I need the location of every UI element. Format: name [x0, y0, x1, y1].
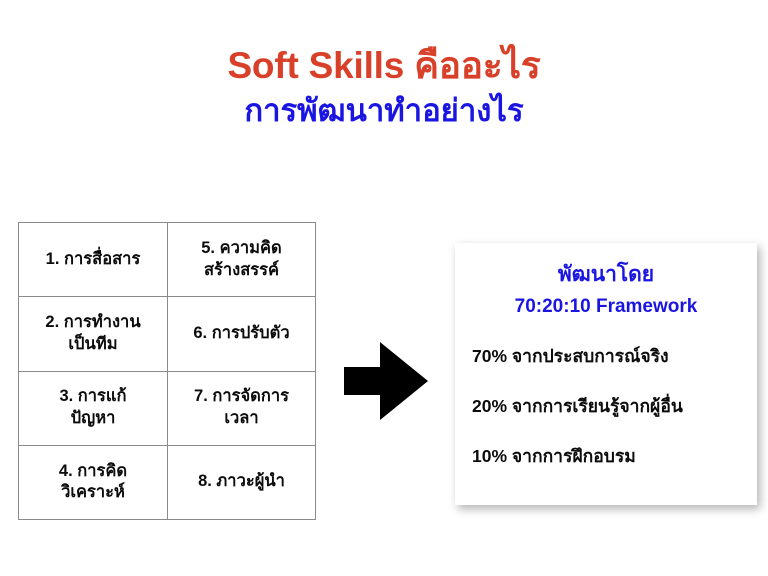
skill-cell-5: 5. ความคิดสร้างสรรค์ — [168, 223, 316, 297]
page-title: Soft Skills คืออะไร — [0, 44, 768, 88]
table-row: 4. การคิดวิเคราะห์ 8. ภาวะผู้นำ — [19, 445, 316, 519]
title-block: Soft Skills คืออะไร การพัฒนาทำอย่างไร — [0, 44, 768, 129]
skill-cell-6: 6. การปรับตัว — [168, 297, 316, 371]
card-heading-thai: พัฒนาโดย — [455, 262, 757, 287]
slide-canvas: Soft Skills คืออะไร การพัฒนาทำอย่างไร 1.… — [0, 0, 768, 576]
skill-cell-2: 2. การทำงานเป็นทีม — [19, 297, 168, 371]
card-line-10: 10% จากการฝึกอบรม — [472, 446, 757, 467]
skill-cell-3: 3. การแก้ปัญหา — [19, 371, 168, 445]
table-row: 3. การแก้ปัญหา 7. การจัดการเวลา — [19, 371, 316, 445]
arrow-right-icon — [344, 342, 428, 420]
card-line-list: 70% จากประสบการณ์จริง 20% จากการเรียนรู้… — [455, 346, 757, 467]
skill-cell-7: 7. การจัดการเวลา — [168, 371, 316, 445]
card-line-70: 70% จากประสบการณ์จริง — [472, 346, 757, 367]
skill-cell-8: 8. ภาวะผู้นำ — [168, 445, 316, 519]
framework-card: พัฒนาโดย 70:20:10 Framework 70% จากประสบ… — [455, 243, 757, 505]
card-heading-english: 70:20:10 Framework — [455, 296, 757, 319]
table-row: 1. การสื่อสาร 5. ความคิดสร้างสรรค์ — [19, 223, 316, 297]
card-line-20: 20% จากการเรียนรู้จากผู้อื่น — [472, 396, 757, 417]
table-row: 2. การทำงานเป็นทีม 6. การปรับตัว — [19, 297, 316, 371]
page-subtitle: การพัฒนาทำอย่างไร — [0, 92, 768, 129]
skill-cell-4: 4. การคิดวิเคราะห์ — [19, 445, 168, 519]
skills-table: 1. การสื่อสาร 5. ความคิดสร้างสรรค์ 2. กา… — [18, 222, 316, 520]
skill-cell-1: 1. การสื่อสาร — [19, 223, 168, 297]
